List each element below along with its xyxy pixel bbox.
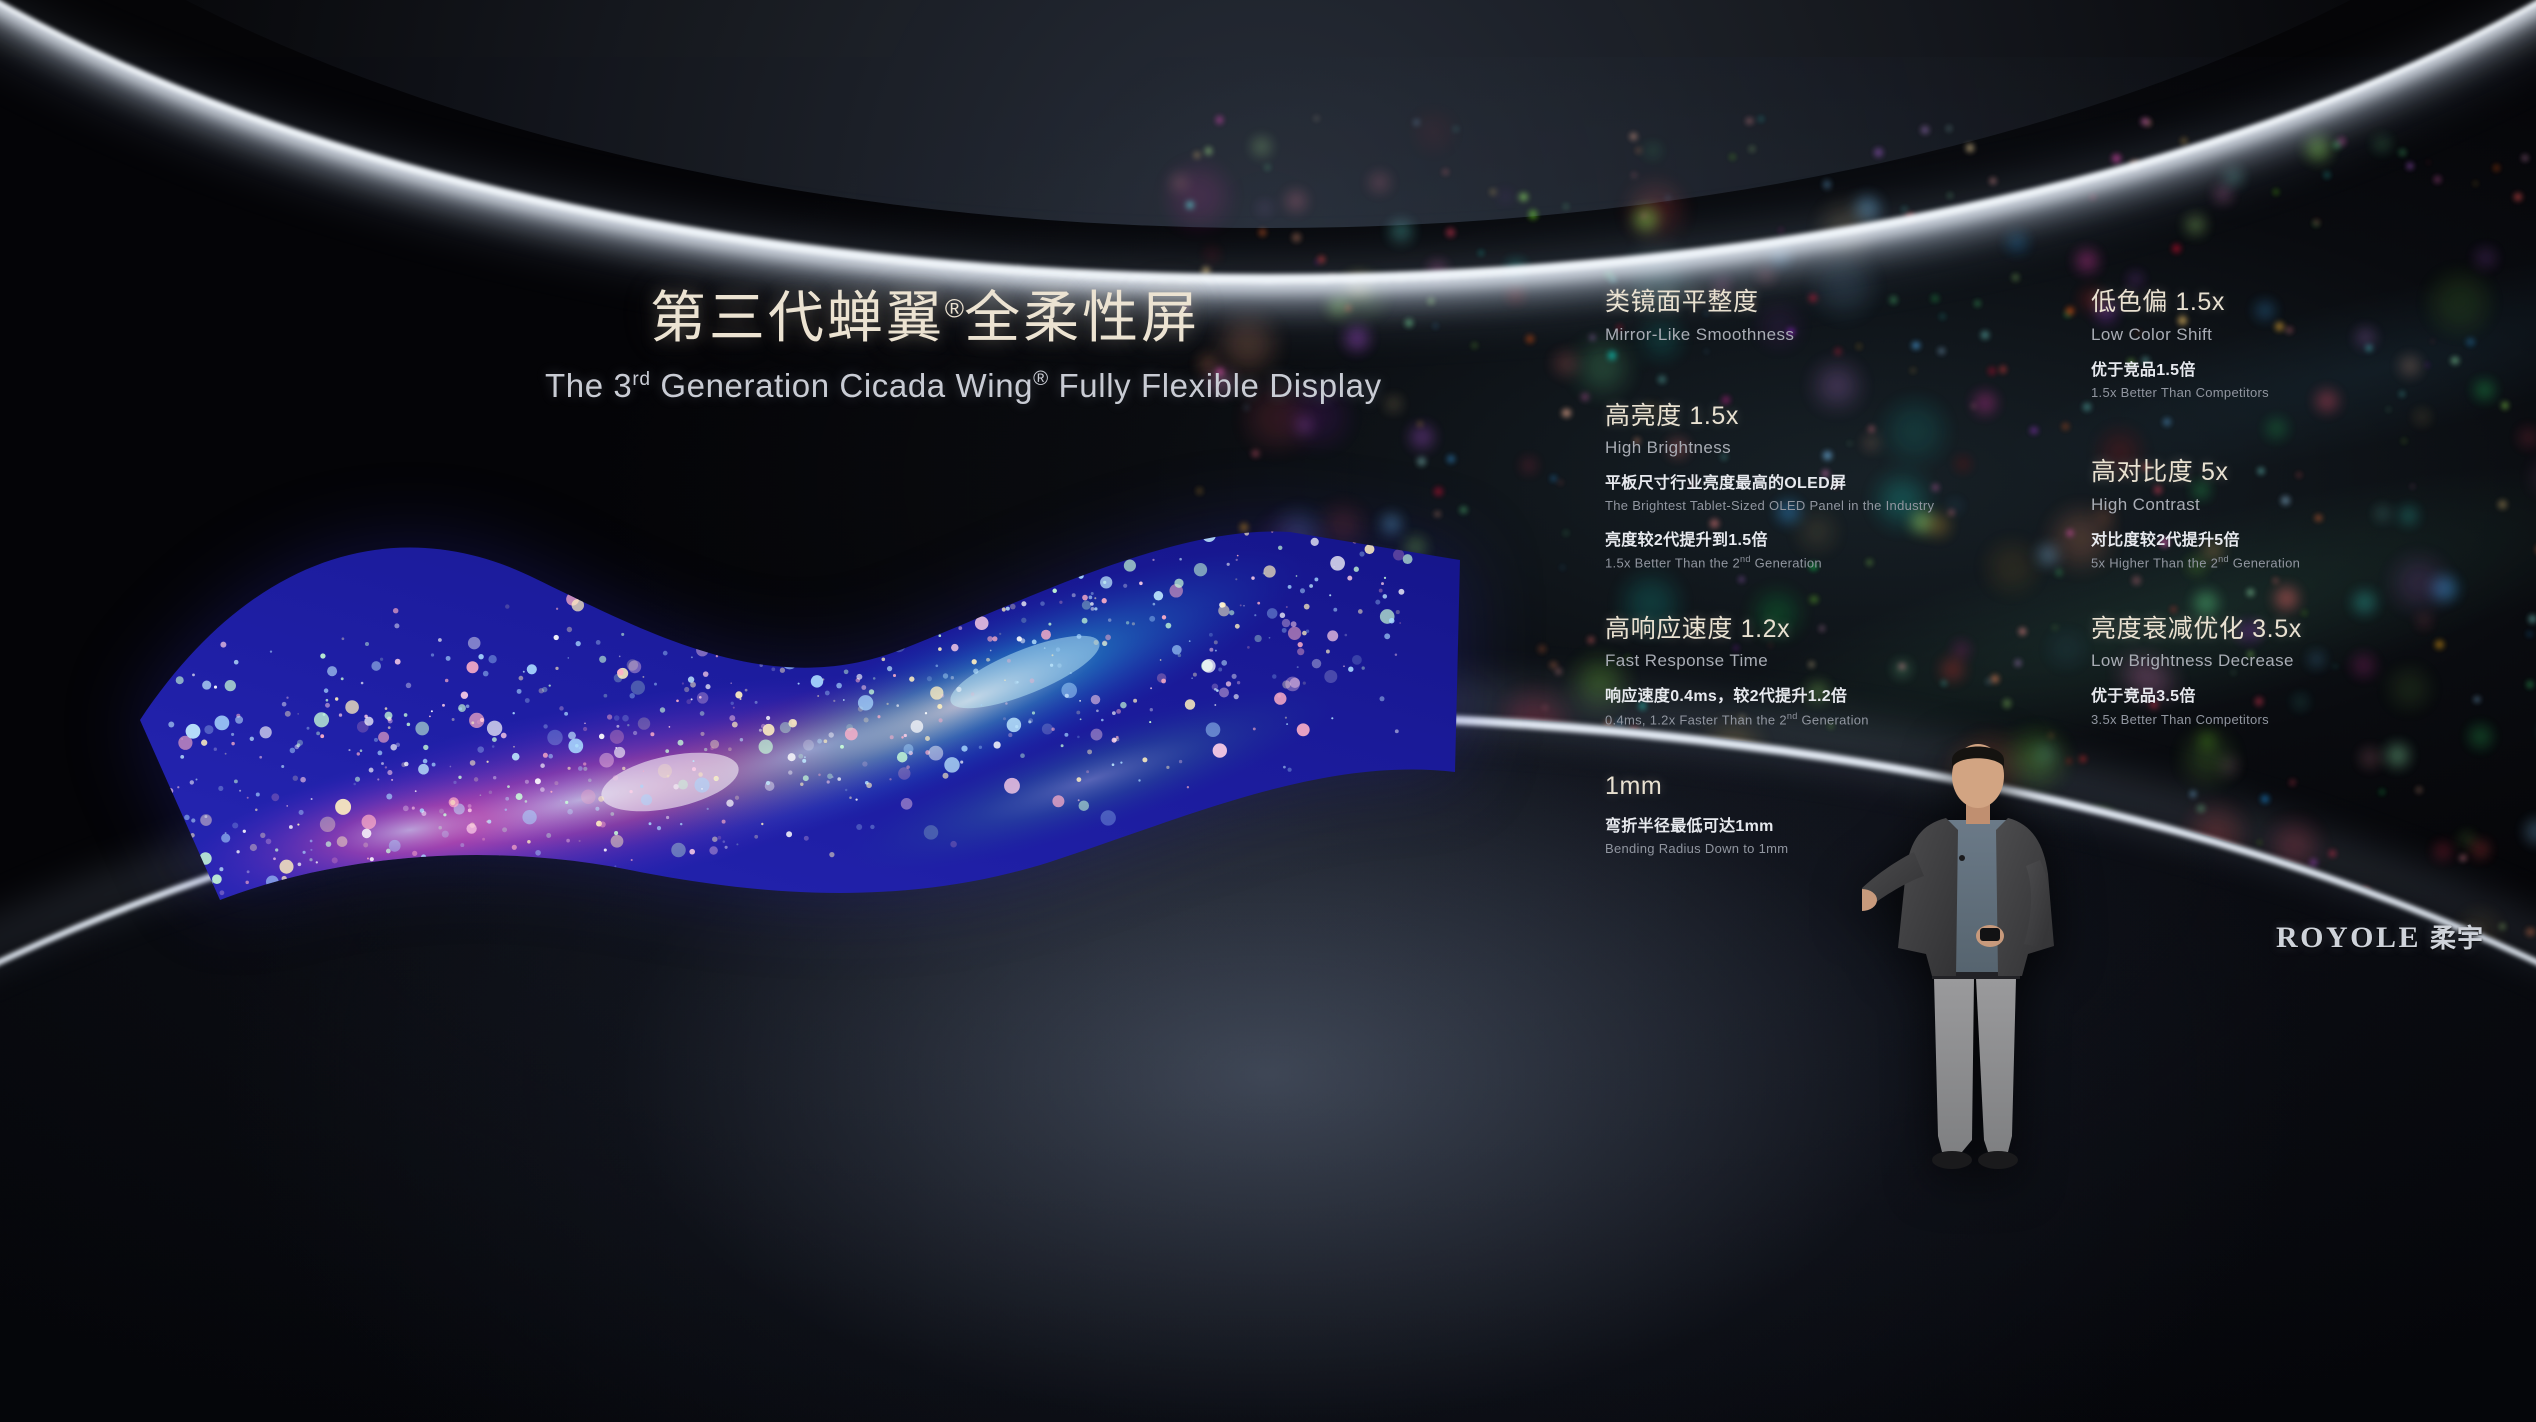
logo-text-cn: 柔宇 bbox=[2430, 918, 2484, 955]
feature-heading-value: 5x bbox=[2201, 458, 2229, 486]
detail-cn: 响应速度0.4ms，较2代提升1.2倍 bbox=[1605, 685, 2005, 708]
spacer bbox=[1605, 583, 2005, 613]
feature-detail: 响应速度0.4ms，较2代提升1.2倍 0.4ms, 1.2x Faster T… bbox=[1605, 685, 2005, 729]
feature-heading-cn: 高响应速度 bbox=[1605, 615, 1733, 643]
feature-heading: 高对比度 5x bbox=[2091, 456, 2491, 489]
detail-en-pre: 0.4ms, 1.2x Faster Than the 2 bbox=[1605, 712, 1787, 727]
presenter-person bbox=[1862, 740, 2102, 1210]
title-chinese: 第三代蝉翼®全柔性屏 bbox=[545, 286, 1305, 351]
leg-left bbox=[1934, 978, 1974, 1152]
detail-en: The Brightest Tablet-Sized OLED Panel in… bbox=[1605, 496, 2005, 516]
feature-heading: 高响应速度 1.2x bbox=[1605, 613, 2005, 646]
detail-en: 5x Higher Than the 2nd Generation bbox=[2091, 553, 2491, 573]
feature-heading-cn: 高对比度 bbox=[2091, 458, 2193, 486]
feature-mirror-smoothness: 类镜面平整度 Mirror-Like Smoothness bbox=[1605, 286, 2005, 346]
feature-low-brightness-decrease: 亮度衰减优化 3.5x Low Brightness Decrease 优于竞品… bbox=[2091, 613, 2491, 729]
feature-subtitle: Low Color Shift bbox=[2091, 324, 2491, 346]
ordinal-suffix: nd bbox=[1787, 711, 1798, 721]
registered-mark-en-icon: ® bbox=[1033, 367, 1049, 390]
feature-detail: 平板尺寸行业亮度最高的OLED屏 The Brightest Tablet-Si… bbox=[1605, 472, 2005, 516]
shoe-right bbox=[1978, 1151, 2018, 1169]
feature-heading-value: 3.5x bbox=[2252, 615, 2302, 643]
feature-heading: 高亮度 1.5x bbox=[1605, 400, 2005, 433]
registered-mark-icon: ® bbox=[945, 293, 964, 323]
flexible-display-panel bbox=[110, 400, 1490, 910]
title-en-prefix: The 3 bbox=[545, 367, 632, 404]
detail-cn: 对比度较2代提升5倍 bbox=[2091, 529, 2491, 552]
detail-en: 1.5x Better Than Competitors bbox=[2091, 383, 2491, 403]
ordinal-suffix: nd bbox=[2218, 554, 2229, 564]
slide-title-block: 第三代蝉翼®全柔性屏 The 3rd Generation Cicada Win… bbox=[545, 286, 1305, 405]
feature-heading-cn: 低色偏 bbox=[2091, 288, 2168, 316]
royole-logo: ROYOLE 柔宇 bbox=[2276, 918, 2484, 955]
spacer bbox=[2091, 583, 2491, 613]
title-en-mid: Generation Cicada Wing bbox=[651, 367, 1034, 404]
feature-heading-cn: 1mm bbox=[1605, 772, 1662, 800]
detail-en: 0.4ms, 1.2x Faster Than the 2nd Generati… bbox=[1605, 710, 2005, 730]
detail-en-pre: 1.5x Better Than the 2 bbox=[1605, 555, 1740, 570]
feature-subtitle: High Brightness bbox=[1605, 437, 2005, 459]
feature-high-brightness: 高亮度 1.5x High Brightness 平板尺寸行业亮度最高的OLED… bbox=[1605, 400, 2005, 573]
title-cn-before: 第三代蝉翼 bbox=[650, 286, 945, 349]
feature-detail: 亮度较2代提升到1.5倍 1.5x Better Than the 2nd Ge… bbox=[1605, 529, 2005, 573]
title-en-suffix: Fully Flexible Display bbox=[1049, 367, 1382, 404]
detail-cn: 优于竞品3.5倍 bbox=[2091, 685, 2491, 708]
jacket-left-panel bbox=[1898, 818, 1958, 976]
lapel-mic-icon bbox=[1959, 855, 1965, 861]
feature-low-color-shift: 低色偏 1.5x Low Color Shift 优于竞品1.5倍 1.5x B… bbox=[2091, 286, 2491, 402]
detail-en-pre: 5x Higher Than the 2 bbox=[2091, 555, 2218, 570]
feature-heading-cn: 类镜面平整度 bbox=[1605, 288, 1759, 316]
detail-cn: 优于竞品1.5倍 bbox=[2091, 359, 2491, 382]
feature-subtitle: Low Brightness Decrease bbox=[2091, 650, 2491, 672]
spacer bbox=[2091, 412, 2491, 456]
feature-heading-cn: 亮度衰减优化 bbox=[2091, 615, 2245, 643]
feature-heading-value: 1.5x bbox=[1689, 402, 1739, 430]
shoe-left bbox=[1932, 1151, 1972, 1169]
feature-heading-cn: 高亮度 bbox=[1605, 402, 1682, 430]
spacer bbox=[1605, 356, 2005, 400]
detail-en: 1.5x Better Than the 2nd Generation bbox=[1605, 553, 2005, 573]
presenter-silhouette bbox=[1862, 740, 2102, 1210]
feature-fast-response: 高响应速度 1.2x Fast Response Time 响应速度0.4ms，… bbox=[1605, 613, 2005, 730]
feature-heading: 亮度衰减优化 3.5x bbox=[2091, 613, 2491, 646]
feature-high-contrast: 高对比度 5x High Contrast 对比度较2代提升5倍 5x High… bbox=[2091, 456, 2491, 573]
ordinal-suffix: nd bbox=[1740, 554, 1751, 564]
feature-heading: 低色偏 1.5x bbox=[2091, 286, 2491, 319]
feature-subtitle: Fast Response Time bbox=[1605, 650, 2005, 672]
leg-right bbox=[1976, 978, 2016, 1152]
title-cn-after: 全柔性屏 bbox=[964, 286, 1200, 349]
feature-subtitle: High Contrast bbox=[2091, 494, 2491, 516]
feature-heading: 类镜面平整度 bbox=[1605, 286, 2005, 319]
title-english: The 3rd Generation Cicada Wing® Fully Fl… bbox=[545, 367, 1305, 405]
detail-en: 3.5x Better Than Competitors bbox=[2091, 710, 2491, 730]
feature-heading-value: 1.5x bbox=[2175, 288, 2225, 316]
detail-en-post: Generation bbox=[1798, 712, 1869, 727]
feature-detail: 优于竞品1.5倍 1.5x Better Than Competitors bbox=[2091, 359, 2491, 403]
feature-subtitle: Mirror-Like Smoothness bbox=[1605, 324, 2005, 346]
flexible-display-svg bbox=[110, 400, 1490, 910]
feature-column-right: 低色偏 1.5x Low Color Shift 优于竞品1.5倍 1.5x B… bbox=[2091, 286, 2491, 846]
detail-en-post: Generation bbox=[2229, 555, 2300, 570]
presentation-clicker bbox=[1980, 928, 2000, 941]
detail-cn: 亮度较2代提升到1.5倍 bbox=[1605, 529, 2005, 552]
stage-scene: 第三代蝉翼®全柔性屏 The 3rd Generation Cicada Win… bbox=[0, 0, 2536, 1422]
detail-en-post: Generation bbox=[1751, 555, 1822, 570]
feature-heading-value: 1.2x bbox=[1741, 615, 1791, 643]
feature-detail: 优于竞品3.5倍 3.5x Better Than Competitors bbox=[2091, 685, 2491, 729]
feature-detail: 对比度较2代提升5倍 5x Higher Than the 2nd Genera… bbox=[2091, 529, 2491, 573]
logo-text-en: ROYOLE bbox=[2276, 921, 2421, 955]
title-ordinal-suffix: rd bbox=[632, 369, 650, 390]
detail-cn: 平板尺寸行业亮度最高的OLED屏 bbox=[1605, 472, 2005, 495]
